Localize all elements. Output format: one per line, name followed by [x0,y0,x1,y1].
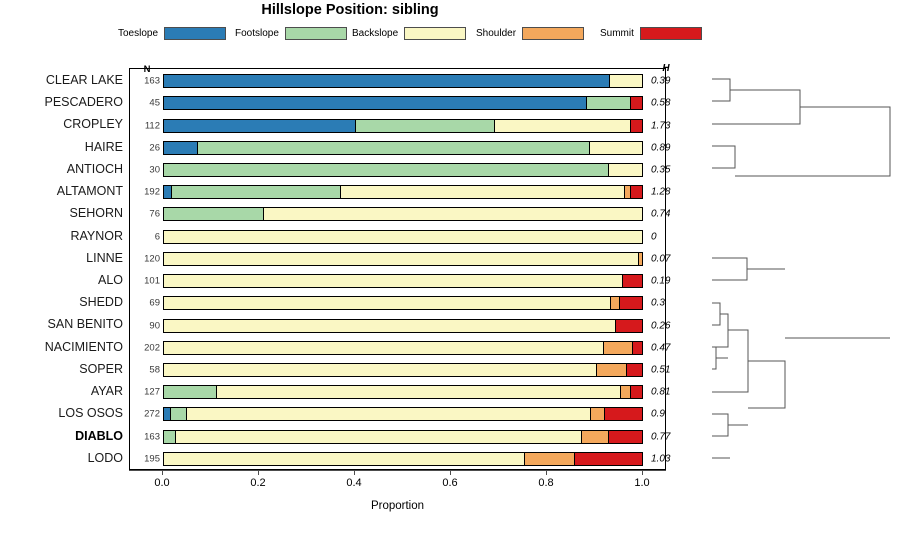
stacked-bar[interactable] [163,207,643,221]
bar-segment[interactable] [164,297,611,309]
stacked-bar[interactable] [163,296,643,310]
bar-segment[interactable] [164,97,587,109]
stacked-bar[interactable] [163,230,643,244]
bar-segment[interactable] [176,431,582,443]
stacked-bar[interactable] [163,274,643,288]
row-h-value: 0.77 [651,431,695,442]
bar-segment[interactable] [627,364,642,376]
series-name-ayar[interactable]: AYAR [91,380,123,402]
legend-item-backslope[interactable]: Backslope [352,24,466,42]
series-name-shedd[interactable]: SHEDD [79,291,123,313]
series-name-soper[interactable]: SOPER [79,358,123,380]
legend: Toeslope Footslope Backslope Shoulder Su… [0,24,700,42]
stacked-bar[interactable] [163,319,643,333]
x-axis-tick-label: 0.8 [538,477,553,489]
x-axis-tick-label: 0.2 [250,477,265,489]
bar-segment[interactable] [582,431,608,443]
table-row[interactable]: 1921.28 [130,181,665,203]
bar-segment[interactable] [597,364,627,376]
row-h-value: 0.39 [651,76,695,87]
row-h-value: 1.28 [651,187,695,198]
bar-segment[interactable] [616,320,642,332]
x-axis-tick-label: 0.4 [346,477,361,489]
row-n-count: 195 [130,453,160,464]
row-n-count: 272 [130,409,160,420]
bar-segment[interactable] [164,186,172,198]
table-row[interactable]: 760.74 [130,203,665,225]
bar-segment[interactable] [164,320,616,332]
table-row[interactable]: 1951.03 [130,448,665,470]
row-n-count: 192 [130,187,160,198]
bar-segment[interactable] [611,297,620,309]
legend-label-toeslope: Toeslope [118,28,158,39]
page-title: Hillslope Position: sibling [0,2,700,18]
row-h-value: 0.47 [651,342,695,353]
bar-segment[interactable] [620,297,642,309]
row-n-count: 69 [130,298,160,309]
row-n-count: 120 [130,253,160,264]
table-row[interactable]: 300.35 [130,159,665,181]
bar-segment[interactable] [164,342,604,354]
row-n-count: 26 [130,142,160,153]
bar-segment[interactable] [591,408,605,420]
series-name-sehorn[interactable]: SEHORN [70,202,123,224]
stacked-bar[interactable] [163,74,643,88]
bar-segment[interactable] [623,275,642,287]
row-n-count: 76 [130,209,160,220]
legend-label-shoulder: Shoulder [476,28,516,39]
row-h-value: 0.19 [651,276,695,287]
row-n-count: 90 [130,320,160,331]
bar-segment[interactable] [610,75,642,87]
row-h-value: 0.07 [651,253,695,264]
x-axis-tick-label: 1.0 [634,477,649,489]
series-name-axis: CLEAR LAKEPESCADEROCROPLEYHAIREANTIOCHAL… [0,68,127,470]
legend-item-toeslope[interactable]: Toeslope [118,24,226,42]
row-h-value: 0.3 [651,298,695,309]
row-h-value: 1.03 [651,453,695,464]
x-axis-title: Proportion [129,500,666,512]
series-name-alo[interactable]: ALO [98,269,123,291]
row-n-count: 112 [130,120,160,131]
bar-segment[interactable] [164,275,623,287]
legend-label-footslope: Footslope [235,28,279,39]
table-row[interactable]: 580.51 [130,359,665,381]
row-h-value: 1.73 [651,120,695,131]
stacked-bar[interactable] [163,163,643,177]
series-name-cropley[interactable]: CROPLEY [63,113,123,135]
row-n-count: 6 [130,231,160,242]
bar-segment[interactable] [604,342,634,354]
series-name-antioch[interactable]: ANTIOCH [67,158,123,180]
row-h-value: 0.35 [651,164,695,175]
table-row[interactable]: 690.3 [130,292,665,314]
stacked-bar[interactable] [163,185,643,199]
bar-segment[interactable] [631,386,642,398]
stacked-bar[interactable] [163,141,643,155]
dendrogram [690,68,895,470]
stacked-bar[interactable] [163,385,643,399]
x-axis-tick [642,470,643,475]
legend-label-summit: Summit [600,28,634,39]
bar-segment[interactable] [164,208,264,220]
legend-item-shoulder[interactable]: Shoulder [476,24,584,42]
stacked-bar[interactable] [163,119,643,133]
table-row[interactable]: 1121.73 [130,114,665,136]
bar-segment[interactable] [164,453,525,465]
bar-segment[interactable] [575,453,642,465]
stacked-bar[interactable] [163,341,643,355]
row-n-count: 58 [130,364,160,375]
table-row[interactable]: 1630.39 [130,70,665,92]
series-name-haire[interactable]: HAIRE [85,136,123,158]
legend-swatch-shoulder [522,27,584,40]
bar-segment[interactable] [164,431,176,443]
series-name-lodo[interactable]: LODO [88,447,123,469]
table-row[interactable]: 450.58 [130,92,665,114]
bar-rows: 1630.39450.581121.73260.89300.351921.287… [130,69,665,469]
bar-segment[interactable] [639,253,642,265]
row-h-value: 0.89 [651,142,695,153]
series-name-nacimiento[interactable]: NACIMIENTO [45,336,123,358]
table-row[interactable]: 2720.9 [130,403,665,425]
bar-segment[interactable] [187,408,591,420]
row-h-value: 0.81 [651,387,695,398]
row-h-value: 0 [651,231,695,242]
bar-segment[interactable] [609,431,642,443]
x-axis-tick [162,470,163,475]
legend-swatch-footslope [285,27,347,40]
row-n-count: 30 [130,164,160,175]
bar-segment[interactable] [525,453,575,465]
bar-segment[interactable] [164,142,198,154]
legend-swatch-summit [640,27,702,40]
bar-segment[interactable] [631,186,642,198]
bar-segment[interactable] [164,364,597,376]
table-row[interactable]: 900.26 [130,314,665,336]
bar-segment[interactable] [495,120,632,132]
bar-segment[interactable] [171,408,187,420]
bar-segment[interactable] [164,120,356,132]
bar-segment[interactable] [164,408,171,420]
bar-segment[interactable] [164,75,610,87]
row-n-count: 202 [130,342,160,353]
series-name-raynor[interactable]: RAYNOR [70,225,123,247]
bar-segment[interactable] [164,253,639,265]
stacked-bar[interactable] [163,407,643,421]
x-axis: 0.00.20.40.60.81.0 [129,470,666,471]
stacked-bar[interactable] [163,96,643,110]
x-axis-tick [450,470,451,475]
table-row[interactable]: 60 [130,226,665,248]
stacked-bar[interactable] [163,452,643,466]
row-n-count: 163 [130,431,160,442]
bar-segment[interactable] [264,208,642,220]
legend-item-summit[interactable]: Summit [600,24,702,42]
bar-segment[interactable] [587,97,631,109]
bar-segment[interactable] [164,231,642,243]
x-axis-tick [546,470,547,475]
x-axis-tick-label: 0.0 [154,477,169,489]
row-n-count: 127 [130,387,160,398]
x-axis-tick [354,470,355,475]
legend-swatch-backslope [404,27,466,40]
legend-label-backslope: Backslope [352,28,398,39]
bar-segment[interactable] [609,164,642,176]
series-name-diablo[interactable]: DIABLO [75,425,123,447]
table-row[interactable]: 1270.81 [130,381,665,403]
bar-segment[interactable] [164,386,217,398]
series-name-pescadero[interactable]: PESCADERO [45,91,124,113]
table-row[interactable]: 2020.47 [130,337,665,359]
row-n-count: 45 [130,98,160,109]
table-row[interactable]: 1630.77 [130,426,665,448]
row-h-value: 0.58 [651,98,695,109]
bar-segment[interactable] [631,120,642,132]
bar-segment[interactable] [341,186,625,198]
x-axis-tick [258,470,259,475]
table-row[interactable]: 1010.19 [130,270,665,292]
stacked-bar[interactable] [163,252,643,266]
bar-segment[interactable] [356,120,495,132]
bar-segment[interactable] [198,142,590,154]
bar-segment[interactable] [217,386,622,398]
legend-swatch-toeslope [164,27,226,40]
table-row[interactable]: 260.89 [130,137,665,159]
row-n-count: 101 [130,276,160,287]
stacked-bar-plot: N H 1630.39450.581121.73260.89300.351921… [129,68,666,470]
series-name-san-benito[interactable]: SAN BENITO [48,313,123,335]
x-axis-tick-label: 0.6 [442,477,457,489]
row-h-value: 0.9 [651,409,695,420]
series-name-altamont[interactable]: ALTAMONT [57,180,123,202]
series-name-los-osos[interactable]: LOS OSOS [58,402,123,424]
bar-segment[interactable] [621,386,631,398]
bar-segment[interactable] [172,186,341,198]
row-h-value: 0.51 [651,364,695,375]
series-name-clear-lake[interactable]: CLEAR LAKE [46,69,123,91]
row-n-count: 163 [130,76,160,87]
legend-item-footslope[interactable]: Footslope [235,24,347,42]
bar-segment[interactable] [590,142,642,154]
bar-segment[interactable] [164,164,609,176]
row-h-value: 0.26 [651,320,695,331]
stacked-bar[interactable] [163,430,643,444]
bar-segment[interactable] [633,342,642,354]
stacked-bar[interactable] [163,363,643,377]
table-row[interactable]: 1200.07 [130,248,665,270]
bar-segment[interactable] [605,408,642,420]
x-axis-line [129,470,666,471]
series-name-linne[interactable]: LINNE [86,247,123,269]
dendrogram-svg [690,68,895,470]
bar-segment[interactable] [631,97,642,109]
row-h-value: 0.74 [651,209,695,220]
